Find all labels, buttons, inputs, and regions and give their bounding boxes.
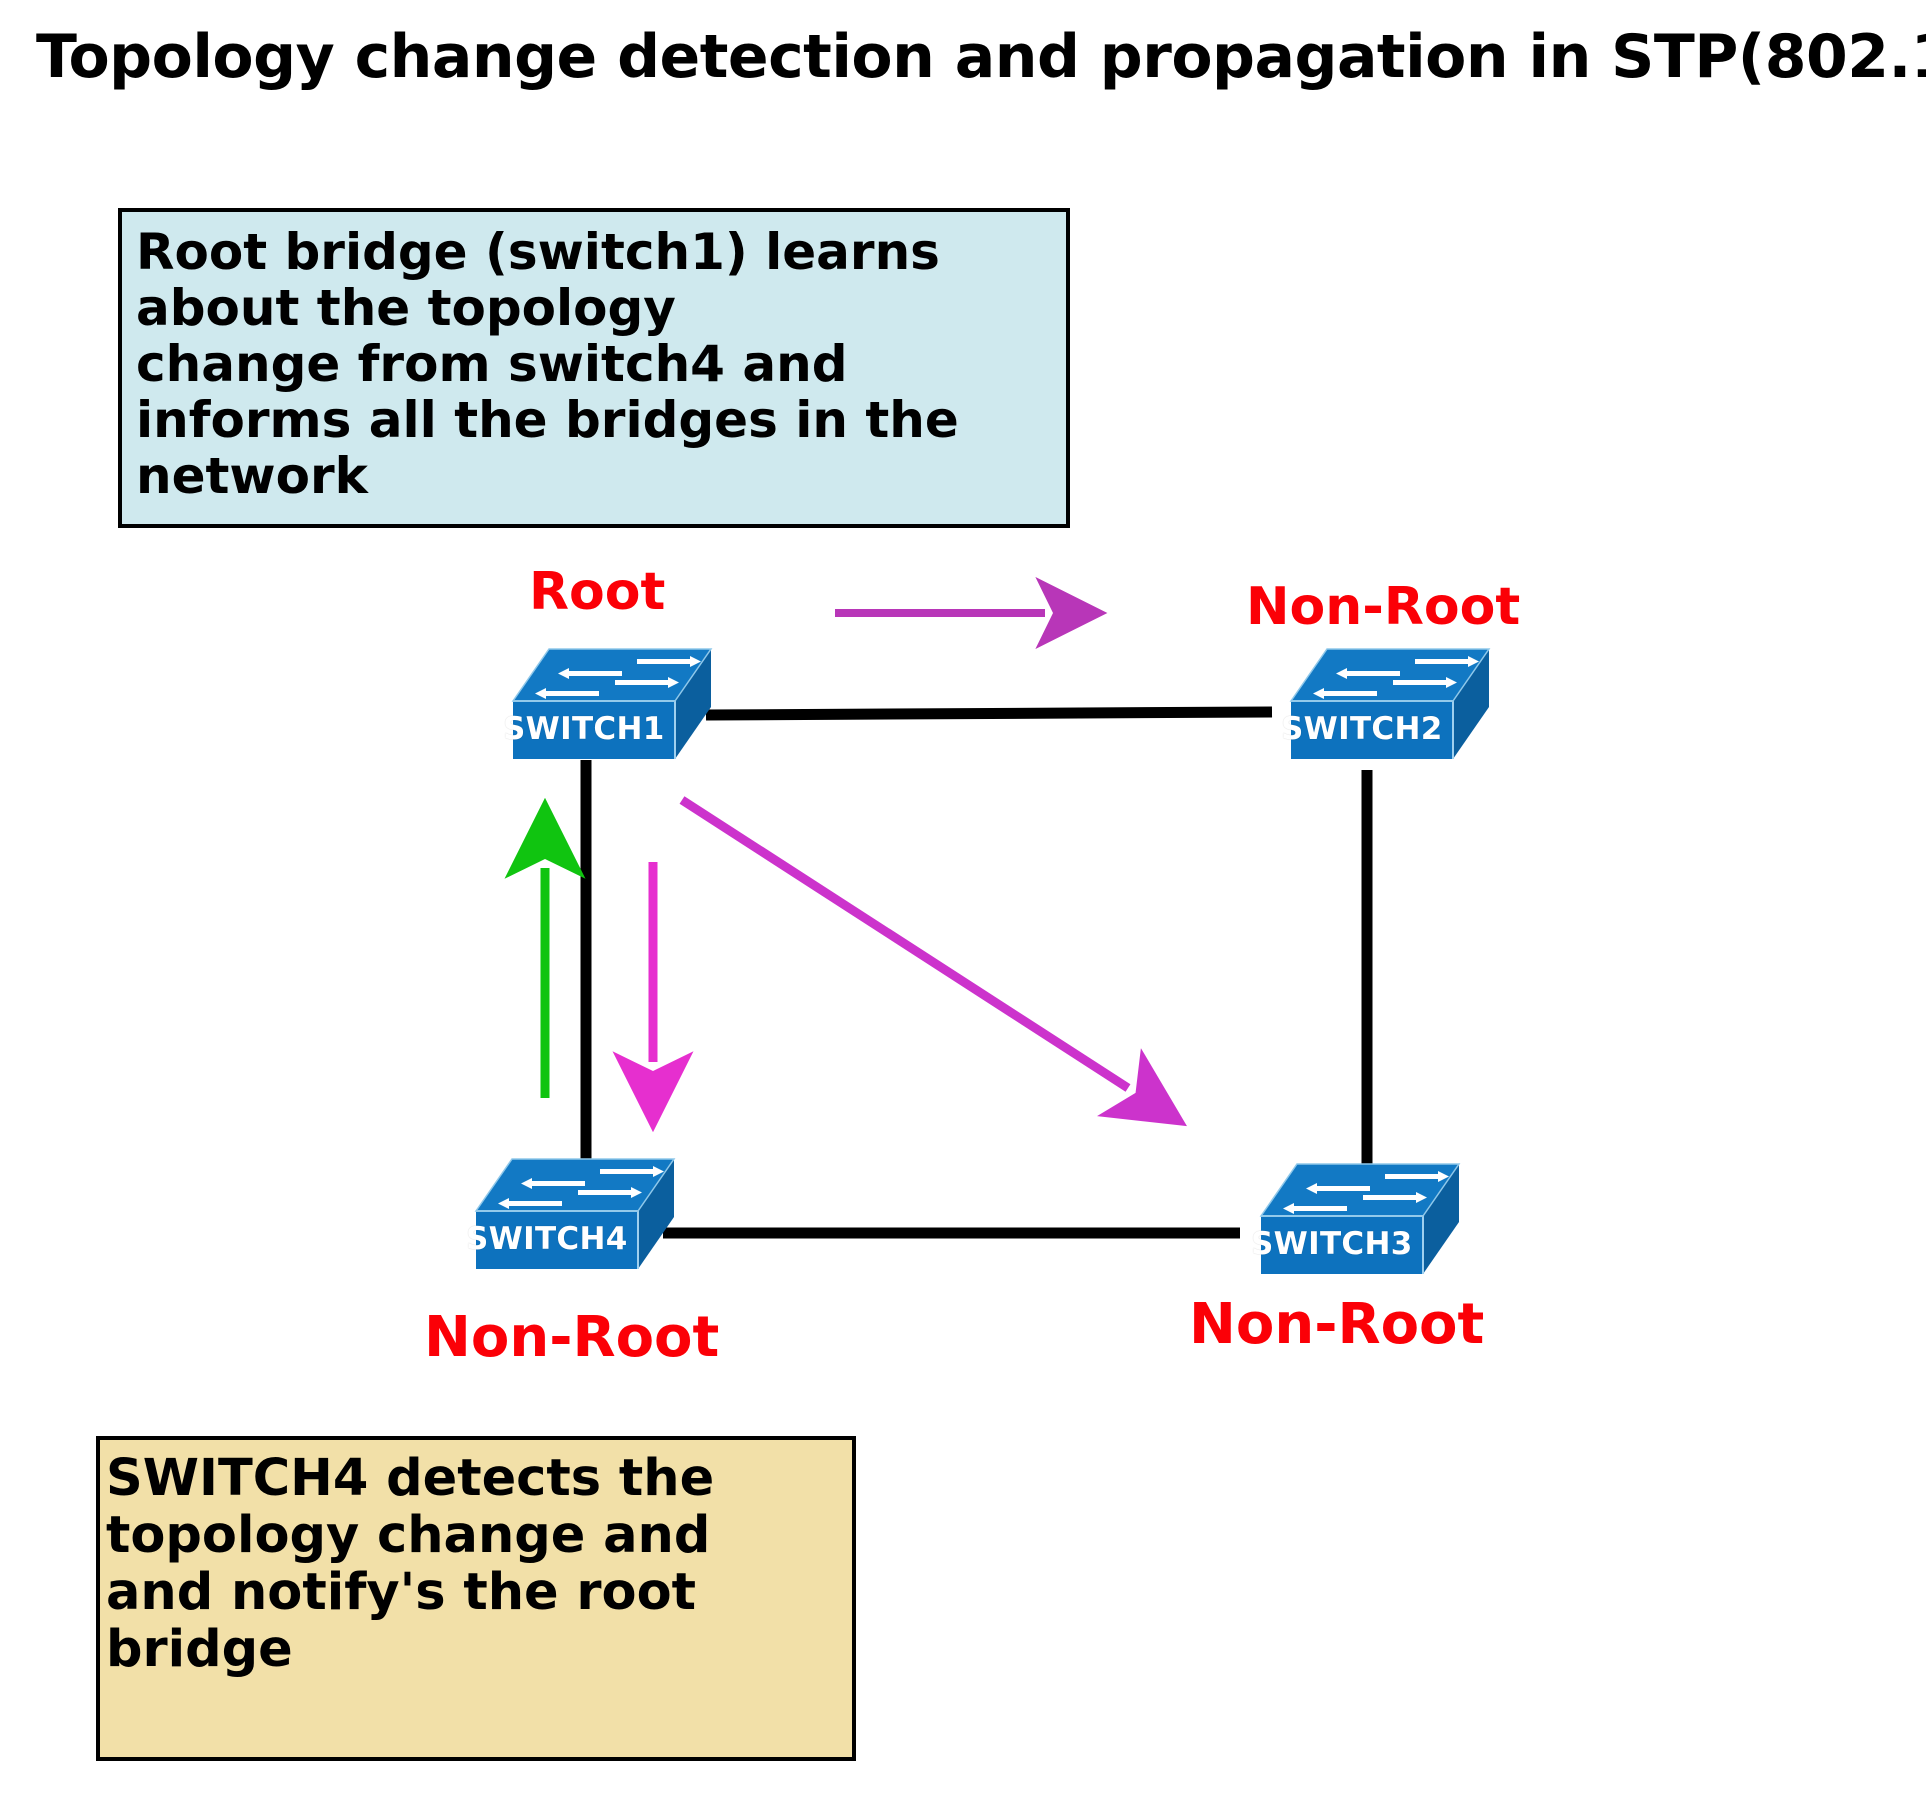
switch-icon [450, 1155, 700, 1275]
switch-node-switch1[interactable]: SWITCH1 [487, 645, 737, 765]
switch-label: SWITCH4 [466, 1221, 628, 1257]
callout-switch4-detect-text: SWITCH4 detects the topology change and … [106, 1450, 852, 1678]
switch-icon [487, 645, 737, 765]
callout-switch4-detect: SWITCH4 detects the topology change and … [96, 1436, 856, 1761]
switch-icon [1265, 645, 1515, 765]
role-label-switch3: Non-Root [1189, 1292, 1484, 1357]
switch-icon [1235, 1160, 1485, 1280]
page-title: Topology change detection and propagatio… [36, 22, 1926, 92]
switch-label: SWITCH1 [503, 711, 665, 747]
callout-root-bridge: Root bridge (switch1) learns about the t… [118, 208, 1070, 528]
switch-label: SWITCH2 [1281, 711, 1443, 747]
switch-node-switch3[interactable]: SWITCH3 [1235, 1160, 1485, 1280]
switch-node-switch2[interactable]: SWITCH2 [1265, 645, 1515, 765]
switch-label: SWITCH3 [1251, 1226, 1413, 1262]
flow-arrow-root-to-switch3 [682, 800, 1128, 1088]
switch-node-switch4[interactable]: SWITCH4 [450, 1155, 700, 1275]
callout-root-bridge-text: Root bridge (switch1) learns about the t… [136, 224, 1066, 504]
diagram-canvas: Topology change detection and propagatio… [0, 0, 1926, 1803]
role-label-switch2: Non-Root [1246, 577, 1520, 637]
link-switch1-switch2 [706, 712, 1272, 715]
role-label-switch1: Root [529, 562, 665, 622]
role-label-switch4: Non-Root [424, 1305, 719, 1370]
